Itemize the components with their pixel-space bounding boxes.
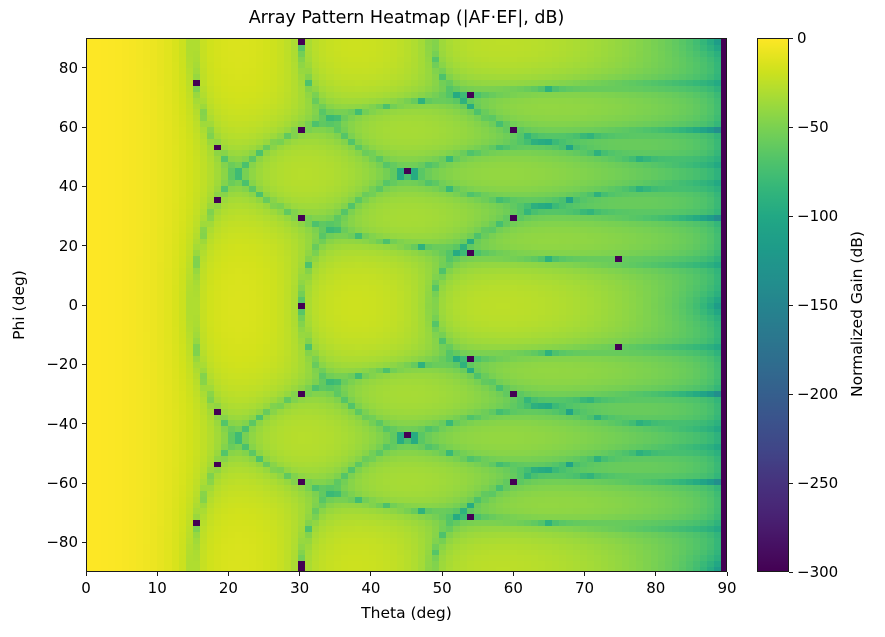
x-tick-label: 30 [290,579,309,597]
x-tick-label: 10 [148,579,167,597]
y-tick-mark [82,364,86,365]
x-tick-label: 40 [361,579,380,597]
y-tick-mark [82,305,86,306]
x-tick-label: 70 [575,579,594,597]
x-tick-mark [299,572,300,576]
x-tick-mark [442,572,443,576]
colorbar-tick-mark [789,127,793,128]
colorbar-tick-mark [789,216,793,217]
x-tick-mark [86,572,87,576]
x-tick-label: 20 [219,579,238,597]
y-tick-mark [82,127,86,128]
x-tick-label: 80 [646,579,665,597]
heatmap-plot-area[interactable] [86,38,727,572]
x-tick-label: 50 [433,579,452,597]
x-tick-label: 60 [504,579,523,597]
y-tick-mark [82,423,86,424]
x-tick-label: 0 [81,579,91,597]
colorbar-tick-label: −150 [797,296,838,314]
colorbar-tick-mark [789,572,793,573]
colorbar-tick-label: 0 [797,29,807,47]
colorbar-tick-label: −250 [797,474,838,492]
y-axis-label: Phi (deg) [10,38,28,572]
colorbar-tick-label: −200 [797,385,838,403]
y-tick-mark [82,245,86,246]
colorbar-tick-mark [789,38,793,39]
y-tick-mark [82,186,86,187]
colorbar-tick-mark [789,483,793,484]
colorbar-gradient [758,39,788,571]
figure-canvas: Array Pattern Heatmap (|AF·EF|, dB) 0102… [0,0,885,637]
colorbar-tick-label: −300 [797,563,838,581]
y-tick-mark [82,542,86,543]
colorbar-tick-label: −50 [797,118,829,136]
page-title: Array Pattern Heatmap (|AF·EF|, dB) [86,8,727,28]
x-tick-mark [157,572,158,576]
x-tick-mark [513,572,514,576]
x-tick-mark [727,572,728,576]
x-tick-label: 90 [717,579,736,597]
colorbar-tick-mark [789,394,793,395]
colorbar-tick-mark [789,305,793,306]
y-tick-mark [82,483,86,484]
x-axis-label: Theta (deg) [86,604,727,622]
y-tick-mark [82,67,86,68]
colorbar-tick-label: −100 [797,207,838,225]
colorbar-label: Normalized Gain (dB) [848,47,866,581]
colorbar[interactable] [757,38,789,572]
x-tick-mark [655,572,656,576]
x-tick-mark [228,572,229,576]
x-tick-mark [584,572,585,576]
heatmap-image [87,39,727,572]
x-tick-mark [370,572,371,576]
